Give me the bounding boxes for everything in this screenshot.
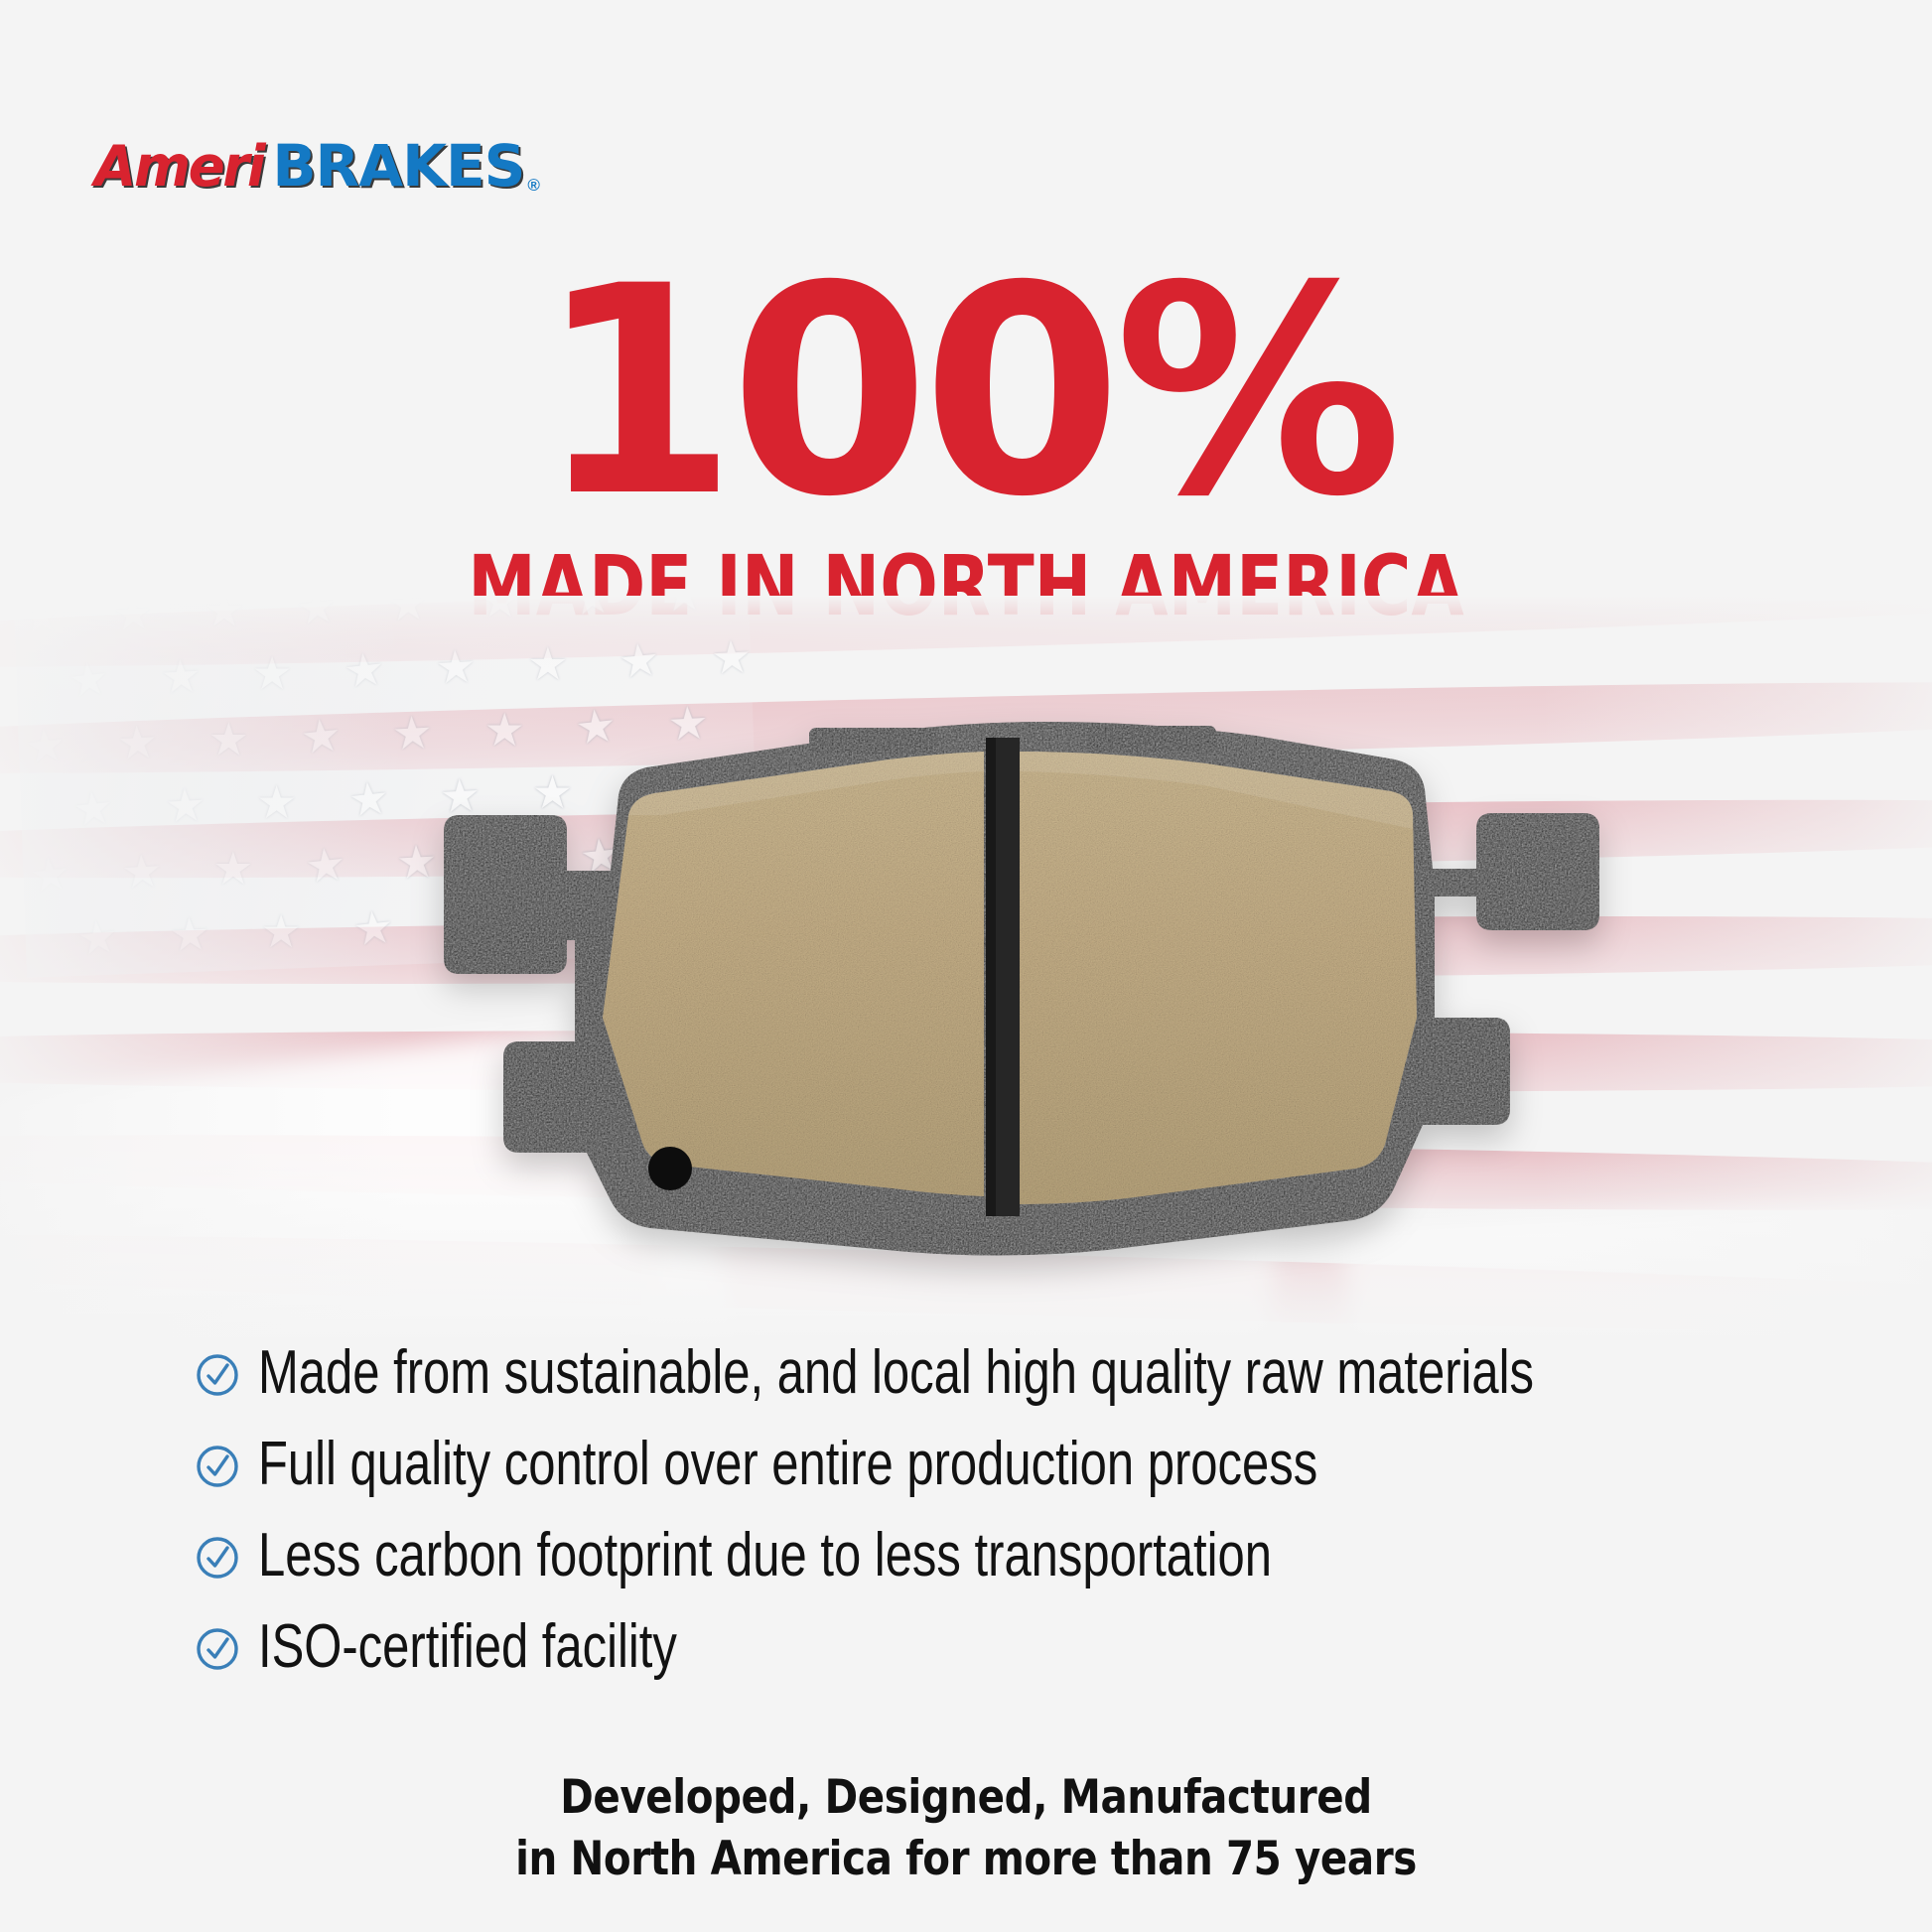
list-item: ISO-certified facility (195, 1614, 1783, 1680)
headline-subtitle: MADE IN NORTH AMERICA (174, 544, 1758, 627)
pad-mounting-hole (648, 1147, 692, 1190)
flag-star-icon: ★ (342, 645, 387, 695)
list-item: Made from sustainable, and local high qu… (195, 1340, 1783, 1406)
flag-star-icon: ★ (120, 848, 164, 896)
friction-material-left (603, 752, 984, 1196)
brake-pad-image (253, 720, 1683, 1261)
check-circle-icon (195, 1352, 240, 1398)
pad-center-slot (986, 738, 1020, 1216)
brand-logo: AmeriBRAKES® (94, 132, 540, 200)
flag-star-icon: ★ (168, 910, 211, 958)
flag-star-icon: ★ (23, 721, 69, 770)
flag-star-icon: ★ (67, 654, 112, 704)
flag-star-icon: ★ (75, 912, 121, 962)
check-circle-icon (195, 1626, 240, 1672)
headline-block: 100% MADE IN NORTH AMERICA (0, 253, 1932, 627)
flag-star-icon: ★ (70, 783, 116, 833)
list-item: Full quality control over entire product… (195, 1432, 1783, 1497)
flag-star-icon: ★ (710, 633, 754, 681)
flag-star-icon: ★ (527, 640, 568, 686)
list-item-label: Less carbon footprint due to less transp… (258, 1523, 1272, 1587)
flag-star-icon: ★ (27, 850, 72, 899)
brand-logo-brakes: BRAKES (272, 132, 524, 200)
registered-trademark-icon: ® (527, 176, 540, 200)
brake-pad-svg (253, 720, 1683, 1261)
footer-line-1: Developed, Designed, Manufactured (135, 1767, 1797, 1829)
flag-star-icon: ★ (434, 642, 478, 690)
footer-line-2: in North America for more than 75 years (135, 1829, 1797, 1890)
check-circle-icon (195, 1444, 240, 1489)
pad-bottom-tabs (869, 1222, 1018, 1248)
list-item-label: ISO-certified facility (258, 1614, 677, 1679)
flag-star-icon: ★ (212, 845, 253, 891)
flag-star-icon: ★ (159, 652, 203, 700)
product-marketing-poster: AmeriBRAKES® 100% MADE IN NORTH AMERICA … (0, 0, 1932, 1932)
check-circle-icon (195, 1535, 240, 1581)
friction-material-right (1020, 752, 1417, 1204)
flag-star-icon: ★ (208, 717, 249, 762)
flag-star-icon: ★ (164, 781, 207, 829)
flag-star-icon: ★ (252, 650, 293, 696)
page-title: 100% (0, 253, 1932, 532)
flag-star-icon: ★ (617, 635, 662, 685)
list-item-label: Full quality control over entire product… (258, 1432, 1317, 1496)
footer-block: Developed, Designed, Manufactured in Nor… (0, 1767, 1932, 1890)
feature-list: Made from sustainable, and local high qu… (195, 1340, 1783, 1706)
flag-star-icon: ★ (115, 719, 159, 766)
brand-logo-ameri: Ameri (94, 134, 263, 200)
list-item: Less carbon footprint due to less transp… (195, 1523, 1783, 1588)
list-item-label: Made from sustainable, and local high qu… (258, 1340, 1534, 1405)
